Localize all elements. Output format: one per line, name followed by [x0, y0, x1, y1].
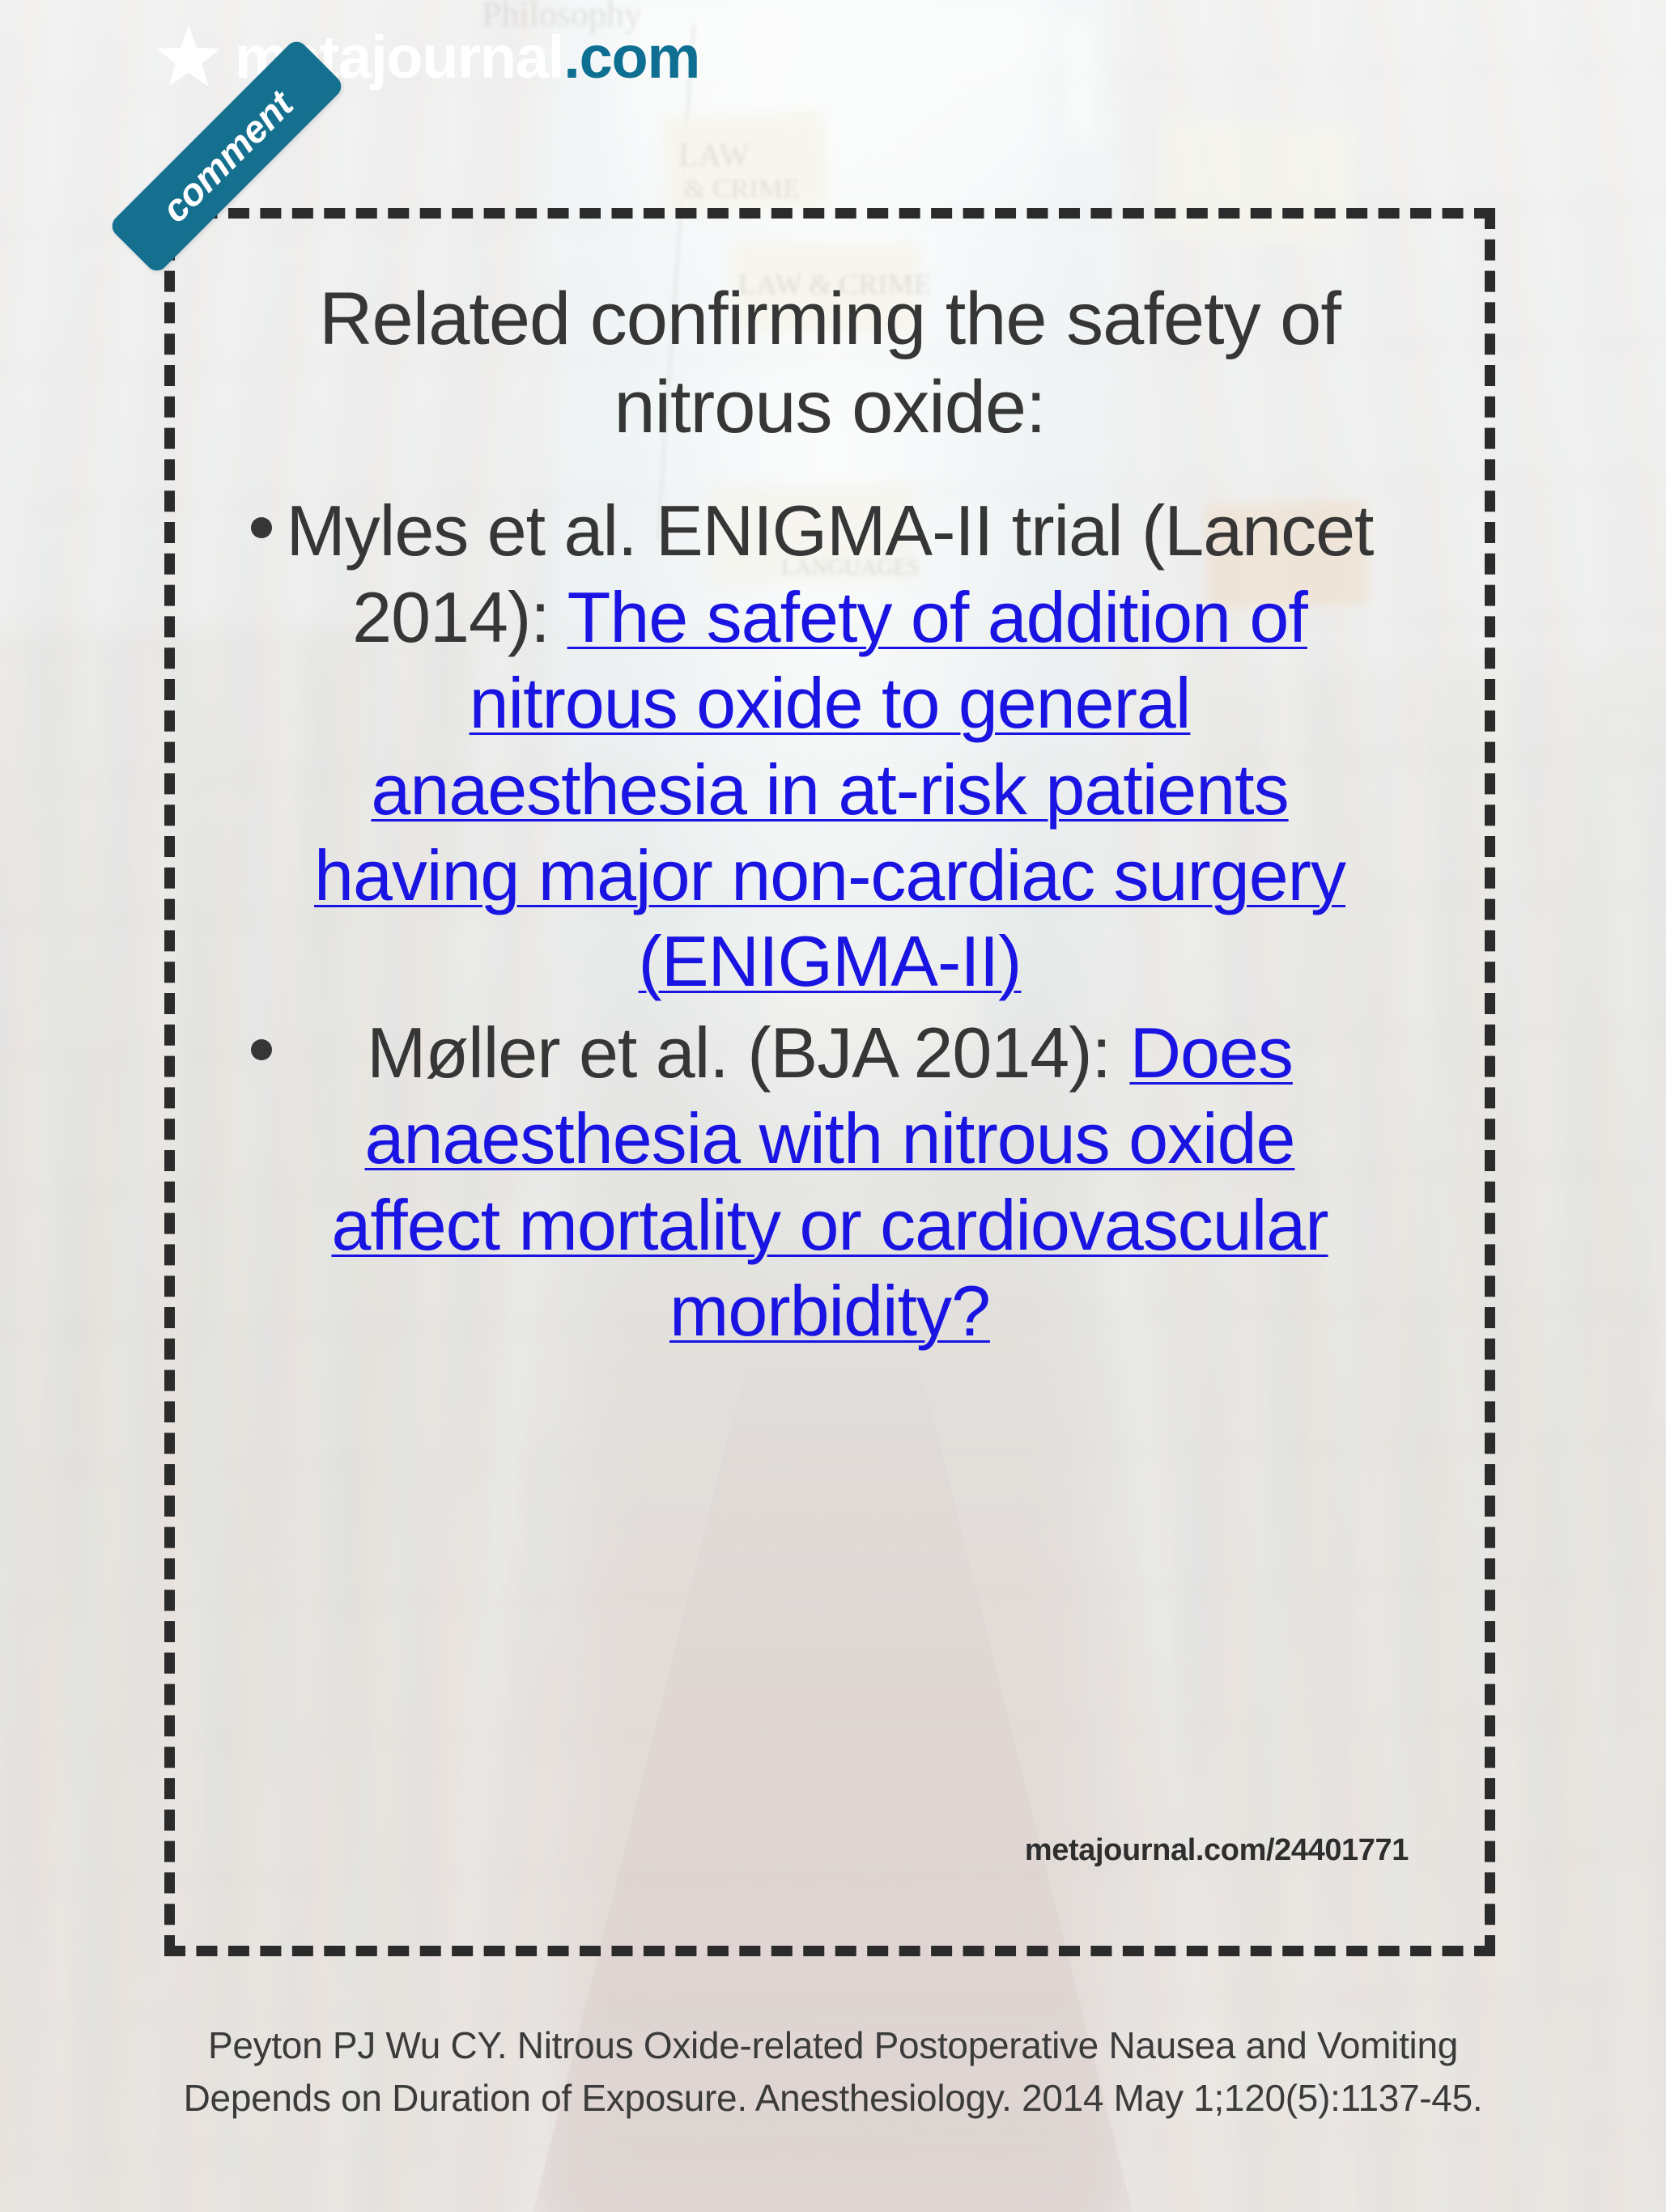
reference-list: Myles et al. ENIGMA-II trial (Lancet 201… — [244, 488, 1415, 1355]
poster-canvas: Philosophy LAW & CRIME LAW & CRIME LANGU… — [0, 0, 1666, 2212]
source-url[interactable]: metajournal.com/24401771 — [1025, 1833, 1409, 1868]
bullet-dot-icon — [251, 517, 272, 538]
content-card: Related confirming the safety of nitrous… — [164, 208, 1495, 1956]
citation-line-1: Peyton PJ Wu CY. Nitrous Oxide-related P… — [146, 2019, 1520, 2072]
brand-name-suffix: .com — [563, 23, 699, 91]
list-item: Myles et al. ENIGMA-II trial (Lancet 201… — [244, 488, 1415, 1005]
star-icon — [154, 23, 223, 92]
citation-footer: Peyton PJ Wu CY. Nitrous Oxide-related P… — [0, 2019, 1666, 2125]
list-item: Møller et al. (BJA 2014): Does anaesthes… — [244, 1010, 1415, 1355]
reference-prefix: Møller et al. (BJA 2014): — [367, 1013, 1129, 1093]
brand-logo[interactable]: metajournal.com — [154, 23, 699, 92]
citation-line-2: Depends on Duration of Exposure. Anesthe… — [146, 2072, 1520, 2125]
card-title: Related confirming the safety of nitrous… — [244, 275, 1415, 451]
content-card-body: Related confirming the safety of nitrous… — [175, 219, 1485, 1946]
bullet-dot-icon — [251, 1039, 272, 1060]
